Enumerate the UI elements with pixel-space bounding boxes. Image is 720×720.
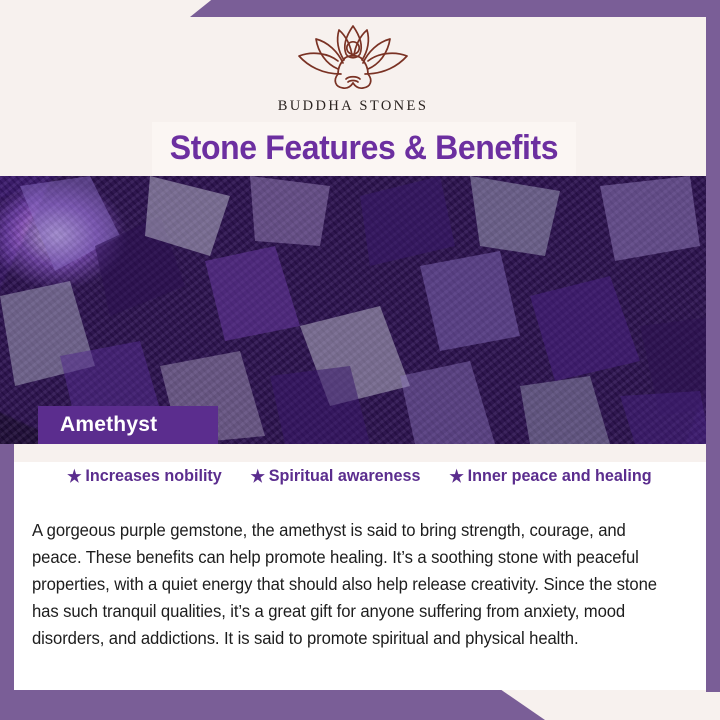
benefit-item: ★ Increases nobility bbox=[67, 466, 222, 486]
content-panel: ★ Increases nobility ★ Spiritual awarene… bbox=[14, 444, 706, 690]
benefit-label: Increases nobility bbox=[85, 466, 221, 486]
benefit-label: Inner peace and healing bbox=[468, 466, 652, 486]
stone-info-card: BUDDHA STONES Stone Features & Benefits bbox=[0, 0, 720, 720]
benefits-list: ★ Increases nobility ★ Spiritual awarene… bbox=[14, 466, 706, 486]
stone-description: A gorgeous purple gemstone, the amethyst… bbox=[32, 517, 672, 652]
frame-accent-left bbox=[0, 444, 14, 692]
photo-crystal-shards bbox=[0, 176, 720, 444]
star-icon: ★ bbox=[450, 468, 464, 485]
frame-accent-top bbox=[190, 0, 720, 17]
benefit-item: ★ Inner peace and healing bbox=[450, 466, 652, 486]
stone-name: Amethyst bbox=[38, 413, 157, 437]
frame-accent-right bbox=[706, 0, 720, 692]
amethyst-photo bbox=[0, 176, 720, 444]
star-icon: ★ bbox=[67, 468, 81, 485]
benefit-item: ★ Spiritual awareness bbox=[250, 466, 420, 486]
brand-wordmark: BUDDHA STONES bbox=[0, 98, 706, 115]
frame-accent-bottom bbox=[0, 690, 545, 720]
benefit-label: Spiritual awareness bbox=[268, 466, 420, 486]
page-title: Stone Features & Benefits bbox=[165, 124, 564, 172]
lotus-meditation-icon bbox=[278, 22, 428, 94]
star-icon: ★ bbox=[250, 468, 264, 485]
stone-name-banner: Amethyst bbox=[38, 406, 218, 444]
brand-logo-block: BUDDHA STONES bbox=[0, 22, 706, 115]
panel-top-tint bbox=[14, 444, 706, 462]
